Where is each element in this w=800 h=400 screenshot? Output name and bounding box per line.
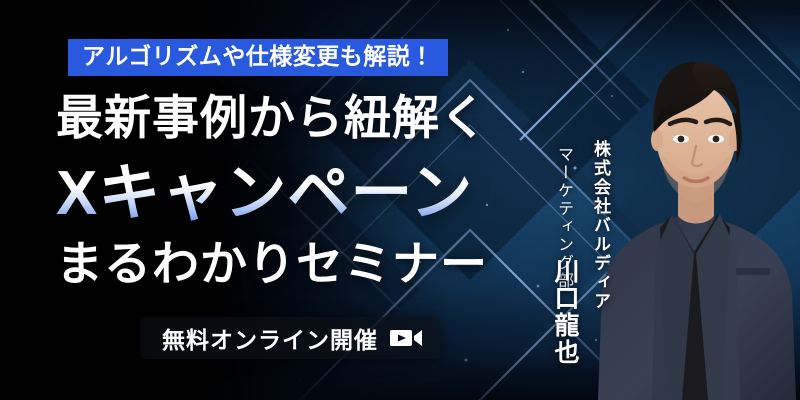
headline-line-3: まるわかりセミナー [56,238,488,290]
online-event-label: 無料オンライン開催 [162,321,378,355]
online-event-pill: 無料オンライン開催 [140,317,440,359]
headline-line-1: 最新事例から紐解く [56,92,488,144]
video-camera-icon [390,328,422,348]
speaker-name: 川口龍也 [547,258,583,366]
banner-content: アルゴリズムや仕様変更も解説！ 最新事例から紐解く Xキャンペーン まるわかりセ… [0,0,800,400]
speaker-company: 株式会社バルディア [588,140,613,311]
headline-line-2: Xキャンペーン [56,160,473,228]
seminar-banner: アルゴリズムや仕様変更も解説！ 最新事例から紐解く Xキャンペーン まるわかりセ… [0,0,800,400]
badge-label: アルゴリズムや仕様変更も解説！ [68,39,448,76]
